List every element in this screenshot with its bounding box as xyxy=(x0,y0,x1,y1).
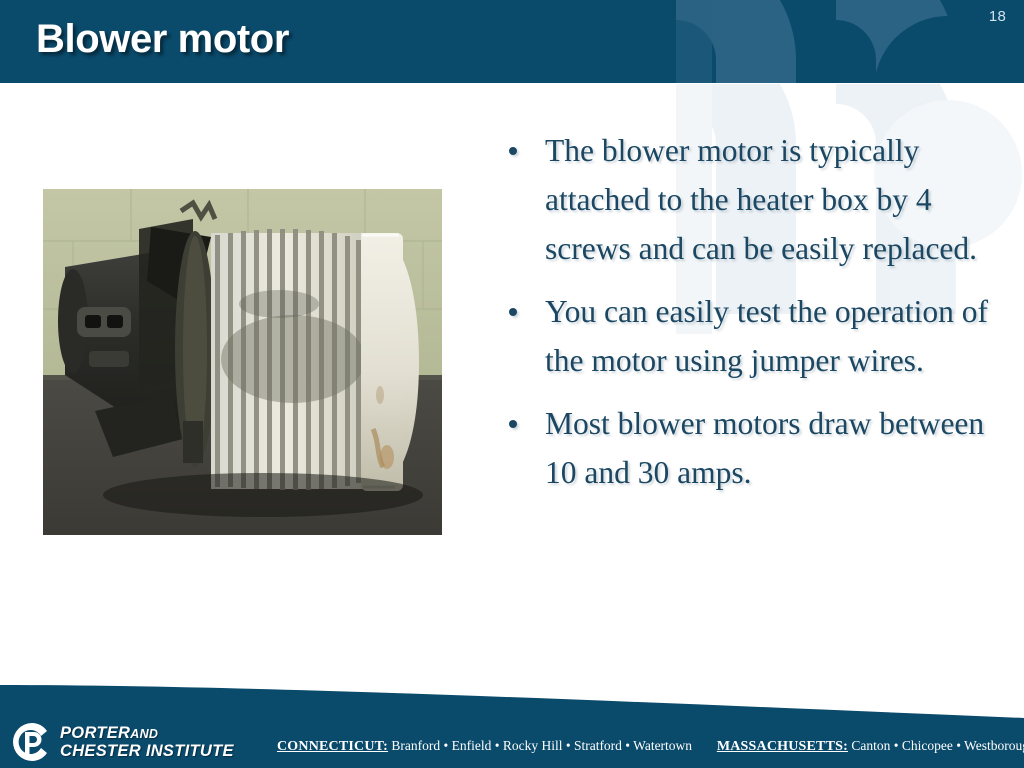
bullet-text: You can easily test the operation of the… xyxy=(545,294,988,378)
slide: 18 Blower motor xyxy=(0,0,1024,768)
bullet-list: The blower motor is typically attached t… xyxy=(500,126,1004,511)
footer-band: PORTERAND CHESTER INSTITUTE CONNECTICUT:… xyxy=(0,660,1024,768)
state-label-massachusetts: MASSACHUSETTS: xyxy=(717,739,848,754)
list-item: Most blower motors draw between 10 and 3… xyxy=(500,399,1004,497)
massachusetts-cities: Canton • Chicopee • Westborough • Woburn xyxy=(851,738,1024,753)
list-item: The blower motor is typically attached t… xyxy=(500,126,1004,273)
state-label-connecticut: CONNECTICUT: xyxy=(277,739,388,754)
institute-logo: PORTERAND CHESTER INSTITUTE xyxy=(11,721,234,763)
bullet-dot-icon xyxy=(509,420,517,428)
logo-line-1: PORTER xyxy=(60,724,130,742)
logo-line-1-and: AND xyxy=(130,727,158,741)
bullet-dot-icon xyxy=(509,147,517,155)
institute-logo-text: PORTERAND CHESTER INSTITUTE xyxy=(60,725,234,760)
porter-chester-logo-icon xyxy=(11,721,53,763)
bullet-dot-icon xyxy=(509,308,517,316)
list-item: You can easily test the operation of the… xyxy=(500,287,1004,385)
bullet-text: The blower motor is typically attached t… xyxy=(545,133,977,266)
blower-motor-photo xyxy=(43,189,442,535)
blower-motor-illustration xyxy=(43,189,442,535)
footer-locations: CONNECTICUT: Branford • Enfield • Rocky … xyxy=(277,738,1024,755)
page-number: 18 xyxy=(989,8,1006,25)
logo-line-2: CHESTER INSTITUTE xyxy=(60,743,234,760)
footer-content: PORTERAND CHESTER INSTITUTE CONNECTICUT:… xyxy=(0,660,1024,768)
connecticut-cities: Branford • Enfield • Rocky Hill • Stratf… xyxy=(391,738,692,753)
bullet-text: Most blower motors draw between 10 and 3… xyxy=(545,406,984,490)
page-title: Blower motor xyxy=(36,17,289,62)
